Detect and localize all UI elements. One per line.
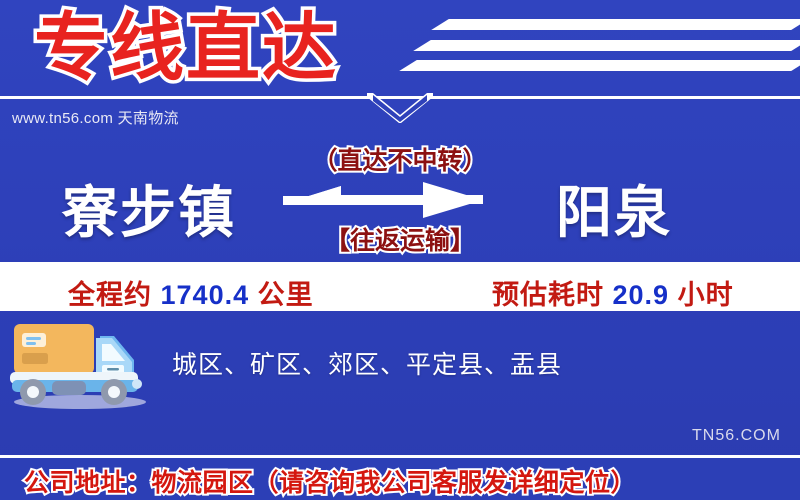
stripe-3 bbox=[399, 60, 800, 71]
coverage-districts: 城区、矿区、郊区、平定县、盂县 bbox=[172, 345, 562, 381]
duration-label: 预估耗时 bbox=[492, 280, 604, 310]
distance-metric: 全程约 1740.4 公里 bbox=[68, 273, 314, 312]
round-trip-note: 【往返运输】 bbox=[0, 221, 800, 257]
bidirectional-arrow-icon bbox=[283, 178, 483, 222]
stripe-2 bbox=[413, 40, 800, 51]
direct-service-note: （直达不中转） bbox=[0, 141, 800, 177]
headline-title: 专线直达 bbox=[34, 0, 338, 98]
duration-metric: 预估耗时 20.9 小时 bbox=[492, 273, 734, 312]
distance-unit: 公里 bbox=[258, 280, 314, 310]
distance-label: 全程约 bbox=[68, 280, 152, 310]
duration-unit: 小时 bbox=[678, 280, 734, 310]
chevron-down-icon bbox=[367, 93, 433, 123]
stripe-1 bbox=[431, 19, 800, 30]
diagonal-stripes-decoration bbox=[400, 0, 800, 110]
company-address: 公司地址：物流园区（请咨询我公司客服发详细定位） bbox=[24, 463, 636, 499]
logistics-banner: 专线直达 www.tn56.com 天南物流 寮步镇 阳泉 （直达不中转） 【往… bbox=[0, 0, 800, 500]
distance-value: 1740.4 bbox=[161, 280, 250, 310]
website-label: www.tn56.com 天南物流 bbox=[12, 107, 179, 128]
duration-value: 20.9 bbox=[613, 280, 670, 310]
delivery-truck-icon bbox=[4, 314, 156, 410]
watermark-label: TN56.COM bbox=[692, 427, 781, 445]
